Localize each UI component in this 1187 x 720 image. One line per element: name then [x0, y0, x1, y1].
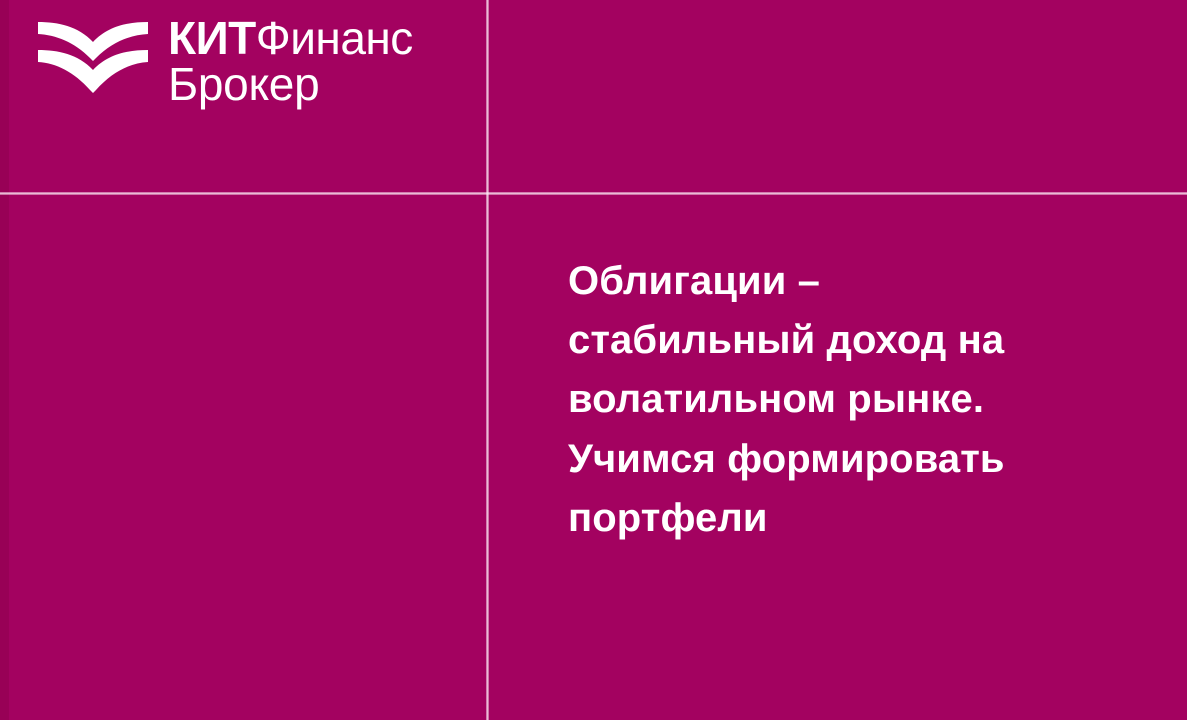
brand-wordmark-line-1: КИТФинанс — [168, 12, 413, 64]
slide-title: Облигации – стабильный доход на волатиль… — [568, 252, 1068, 548]
presentation-title-slide: КИТФинанс Брокер Облигации – стабильный … — [0, 0, 1187, 720]
brand-wordmark-line-2: Брокер — [168, 62, 413, 106]
brand-wordmark: КИТФинанс Брокер — [168, 14, 413, 106]
brand-logo: КИТФинанс Брокер — [36, 14, 413, 106]
divider-horizontal — [0, 192, 1187, 195]
divider-vertical — [486, 0, 489, 720]
title-block: Облигации – стабильный доход на волатиль… — [568, 252, 1068, 548]
double-chevron-icon — [36, 20, 152, 94]
brand-name-finans: Финанс — [256, 12, 413, 64]
quadrant-bottom-left — [0, 195, 486, 720]
brand-name-kit: КИТ — [168, 12, 256, 64]
quadrant-top-right — [489, 0, 1187, 192]
